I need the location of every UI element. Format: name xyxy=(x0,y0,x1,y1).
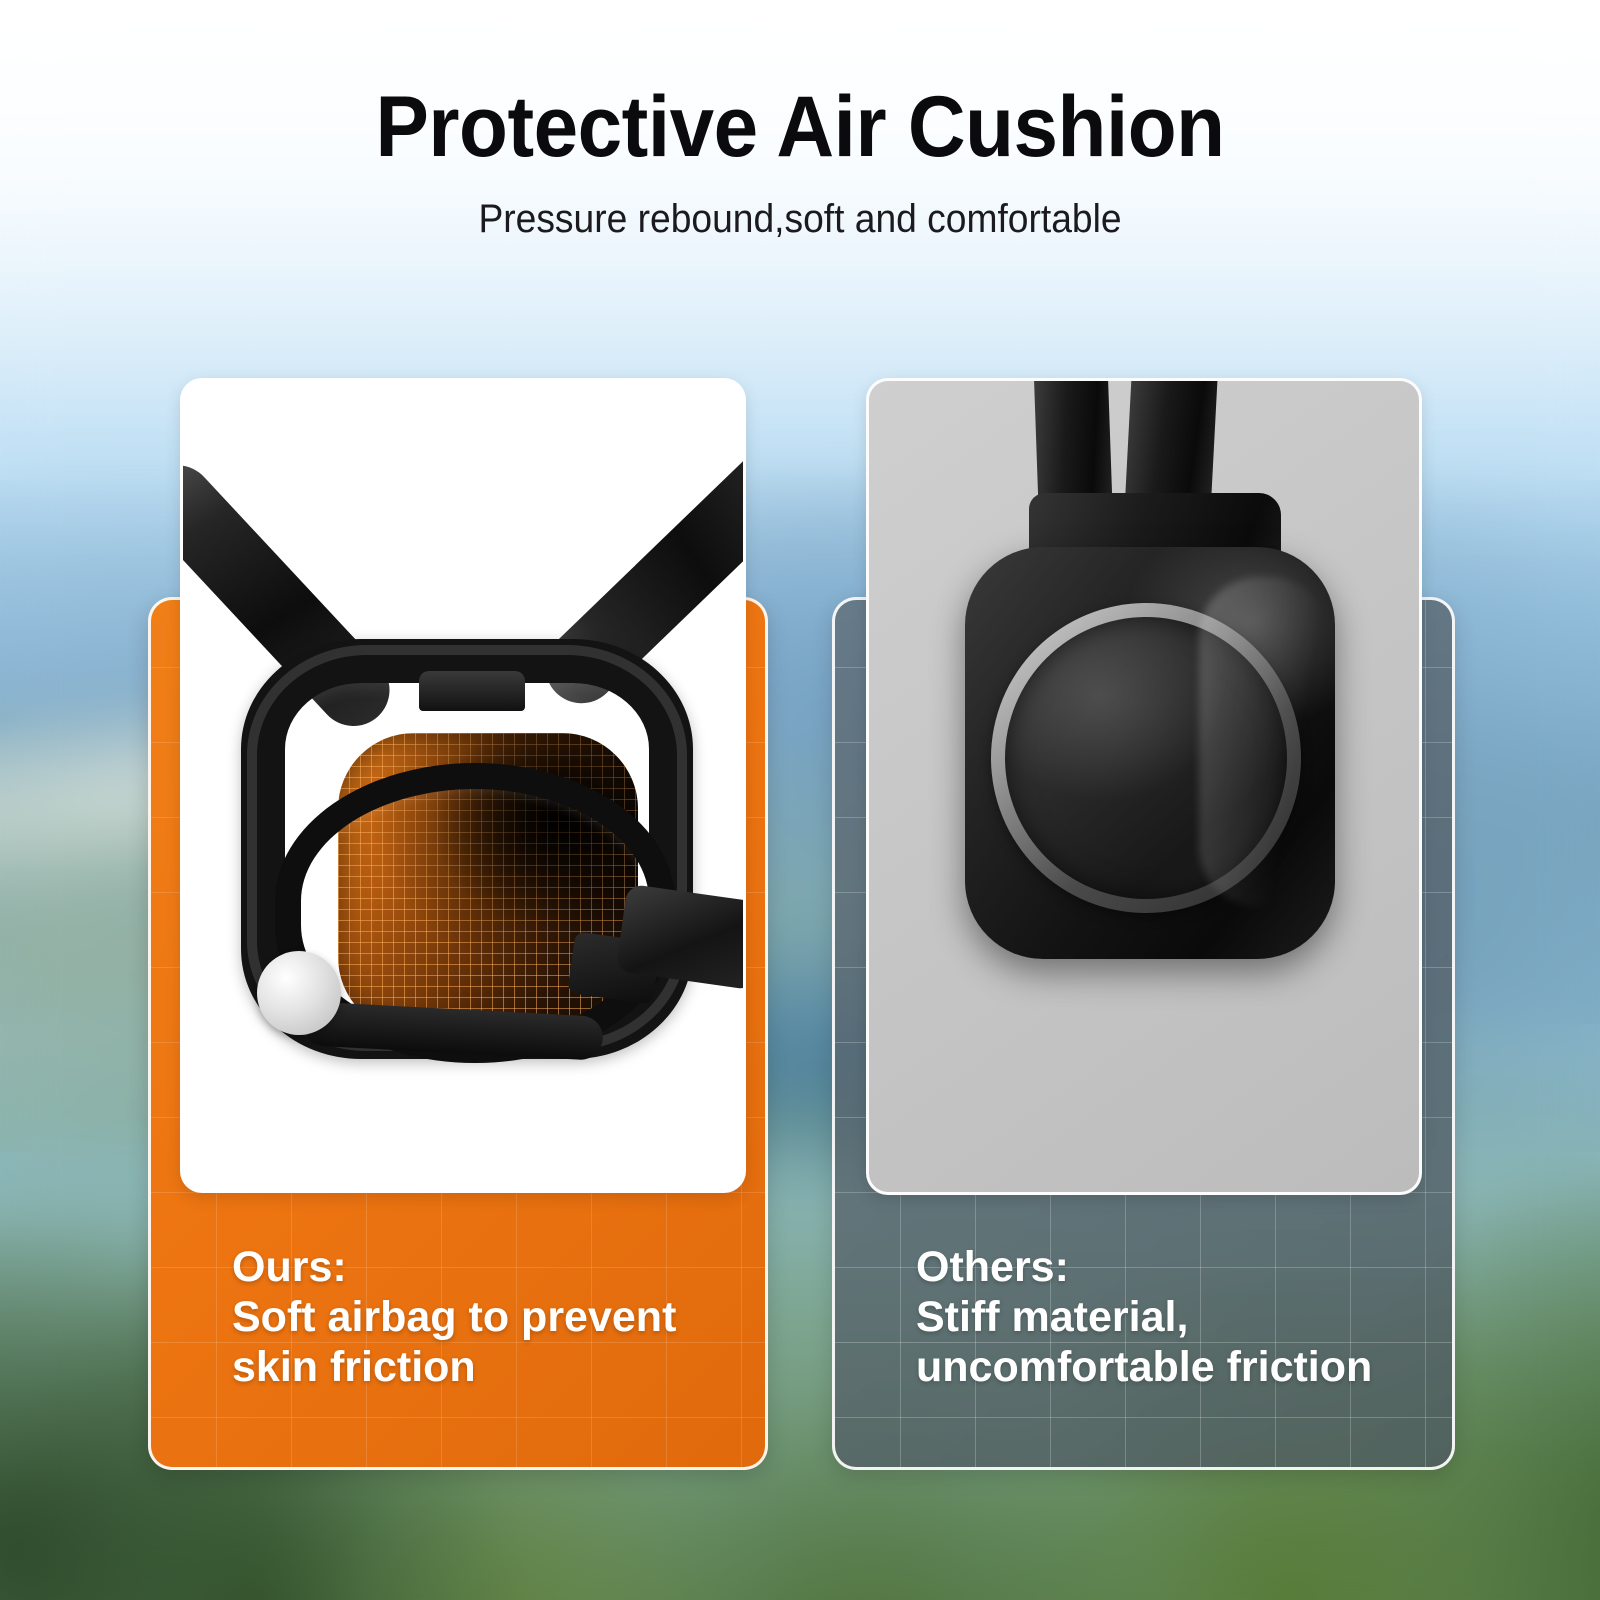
product-photo-ours xyxy=(180,378,746,1193)
caption-others-line2: uncomfortable friction xyxy=(916,1343,1426,1393)
caption-ours-line2: skin friction xyxy=(232,1343,752,1393)
product-photo-others xyxy=(866,378,1422,1195)
caption-others-line1: Stiff material, xyxy=(916,1293,1426,1343)
header: Protective Air Cushion Pressure rebound,… xyxy=(0,0,1600,242)
page-subtitle: Pressure rebound,soft and comfortable xyxy=(56,197,1544,242)
adjustment-knob xyxy=(257,951,341,1035)
caption-others: Others: Stiff material, uncomfortable fr… xyxy=(916,1243,1426,1393)
caption-ours-label: Ours: xyxy=(232,1243,752,1293)
product-feature-graphic: Protective Air Cushion Pressure rebound,… xyxy=(0,0,1600,1600)
page-title: Protective Air Cushion xyxy=(56,78,1544,177)
caption-ours-line1: Soft airbag to prevent xyxy=(232,1293,752,1343)
earcup-gloss-highlight xyxy=(1199,577,1329,907)
earcup-top-tab xyxy=(419,671,525,711)
caption-ours: Ours: Soft airbag to prevent skin fricti… xyxy=(232,1243,752,1393)
caption-others-label: Others: xyxy=(916,1243,1426,1293)
